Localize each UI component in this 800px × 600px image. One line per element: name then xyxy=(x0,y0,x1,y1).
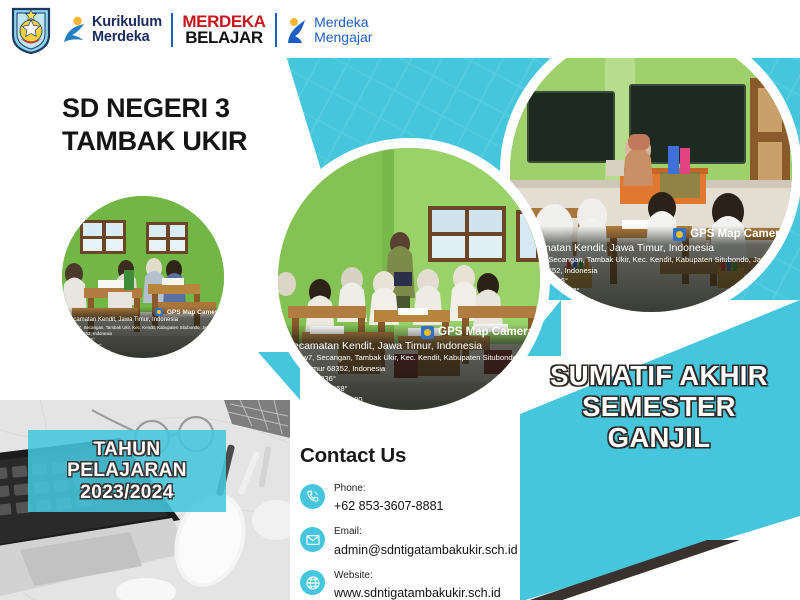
kurikulum-merdeka-figure-icon xyxy=(61,15,87,45)
exam-title: SUMATIF AKHIR SEMESTER GANJIL xyxy=(528,360,790,453)
contact-row-website[interactable]: Website: www.sdntigatambakukir.sch.id xyxy=(300,564,540,600)
gps-longitude: Long 113.923268° xyxy=(286,384,534,394)
contact-heading: Contact Us xyxy=(300,444,540,468)
gps-brand-label: GPS Map Camera xyxy=(167,309,221,316)
gps-address: Rt1 rw7, Secangan, Tambak Ukir, Kec. Ken… xyxy=(518,255,786,276)
merdeka-belajar-logo: MERDEKA BELAJAR xyxy=(182,14,265,46)
merdeka-mengajar-label: Merdeka Mengajar xyxy=(314,15,372,45)
academic-year-line3: 2023/2024 xyxy=(80,482,173,503)
phone-icon xyxy=(300,484,325,509)
merdeka-mengajar-figure-icon xyxy=(286,15,310,45)
academic-year-line2: PELAJARAN xyxy=(67,460,187,481)
gps-brand-row: GPS Map Camera xyxy=(66,308,221,316)
gps-location: Kecamatan Kendit, Jawa Timur, Indonesia xyxy=(286,340,534,354)
school-name-line2: TAMBAK UKIR xyxy=(62,125,312,158)
kurikulum-merdeka-label: Kurikulum Merdeka xyxy=(92,15,162,45)
gps-brand-row: GPS Map Camera xyxy=(286,326,534,339)
gps-watermark: GPS Map Camera Kecamatan Kendit, Jawa Ti… xyxy=(62,307,224,358)
website-label: Website: xyxy=(334,570,373,581)
merdeka-mengajar-logo: Merdeka Mengajar xyxy=(286,15,372,45)
email-icon xyxy=(300,527,325,552)
school-name-line1: SD NEGERI 3 xyxy=(62,92,312,125)
email-value: admin@sdntigatambakukir.sch.id xyxy=(334,543,518,557)
classroom-photo-center: GPS Map Camera Kecamatan Kendit, Jawa Ti… xyxy=(278,148,540,410)
website-value: www.sdntigatambakukir.sch.id xyxy=(334,586,501,600)
exam-title-line2: SEMESTER xyxy=(528,391,790,422)
contact-text-phone: Phone: +62 853-3607-8881 xyxy=(334,477,443,515)
gps-brand-row: GPS Map Camera xyxy=(518,228,786,241)
gps-pin-icon xyxy=(155,308,163,316)
contact-section: Contact Us Phone: +62 853-3607-8881 xyxy=(300,444,540,600)
academic-year-banner: TAHUN PELAJARAN 2023/2024 xyxy=(28,430,226,512)
poster-canvas: Kurikulum Merdeka MERDEKA BELAJAR Merdek… xyxy=(0,0,800,600)
kurikulum-line1: Kurikulum xyxy=(92,14,162,30)
exam-title-line3: GANJIL xyxy=(528,422,790,453)
gps-address: Rt1 rw7, Secangan, Tambak Ukir, Kec. Ken… xyxy=(286,353,534,374)
gps-timestamp: 07:34 AM GMT +07:00 xyxy=(518,297,786,307)
gps-latitude: Lat -7.756236° xyxy=(518,276,786,286)
gps-timestamp: 07:34 AM GMT +07:00 xyxy=(286,395,534,405)
gps-longitude: Long 113.923268° xyxy=(518,286,786,296)
mengajar-line1: Merdeka xyxy=(314,14,368,30)
regional-government-emblem-icon xyxy=(10,5,52,55)
gps-watermark: GPS Map Camera Kecamatan Kendit, Jawa Ti… xyxy=(278,324,540,410)
contact-row-phone[interactable]: Phone: +62 853-3607-8881 xyxy=(300,477,540,515)
classroom-photo-large: GPS Map Camera Kecamatan Kendit, Jawa Ti… xyxy=(510,30,792,312)
gps-pin-icon xyxy=(421,326,434,339)
email-label: Email: xyxy=(334,526,362,537)
kurikulum-merdeka-logo: Kurikulum Merdeka xyxy=(61,15,162,45)
logo-divider-2 xyxy=(275,13,278,47)
gps-location: Kecamatan Kendit, Jawa Timur, Indonesia xyxy=(518,242,786,256)
contact-row-email[interactable]: Email: admin@sdntigatambakukir.sch.id xyxy=(300,520,540,558)
gps-address: Rt1 rw7, Secangan, Tambak Ukir, Kec. Ken… xyxy=(66,325,221,337)
merdeka-belajar-line2: BELAJAR xyxy=(182,30,265,46)
logo-divider-1 xyxy=(171,13,174,47)
gps-brand-label: GPS Map Camera xyxy=(690,228,786,240)
gps-latitude: Lat -7.756236° xyxy=(286,374,534,384)
gps-location: Kecamatan Kendit, Jawa Timur, Indonesia xyxy=(66,317,221,325)
academic-year-line1: TAHUN xyxy=(93,439,160,460)
mengajar-line2: Mengajar xyxy=(314,29,372,45)
phone-label: Phone: xyxy=(334,483,366,494)
classroom-photo-small: GPS Map Camera Kecamatan Kendit, Jawa Ti… xyxy=(62,196,224,358)
logo-row: Kurikulum Merdeka MERDEKA BELAJAR Merdek… xyxy=(10,4,372,56)
gps-pin-icon xyxy=(673,228,686,241)
school-name-title: SD NEGERI 3 TAMBAK UKIR xyxy=(62,92,312,158)
gps-timestamp: 07:34 AM GMT +07:00 xyxy=(66,349,221,355)
exam-title-line1: SUMATIF AKHIR xyxy=(528,360,790,391)
kurikulum-line2: Merdeka xyxy=(92,29,149,45)
gps-brand-label: GPS Map Camera xyxy=(438,326,534,338)
contact-text-website: Website: www.sdntigatambakukir.sch.id xyxy=(334,564,501,600)
website-icon xyxy=(300,570,325,595)
phone-value: +62 853-3607-8881 xyxy=(334,499,443,513)
gps-watermark: GPS Map Camera Kecamatan Kendit, Jawa Ti… xyxy=(510,226,792,312)
contact-text-email: Email: admin@sdntigatambakukir.sch.id xyxy=(334,520,518,558)
